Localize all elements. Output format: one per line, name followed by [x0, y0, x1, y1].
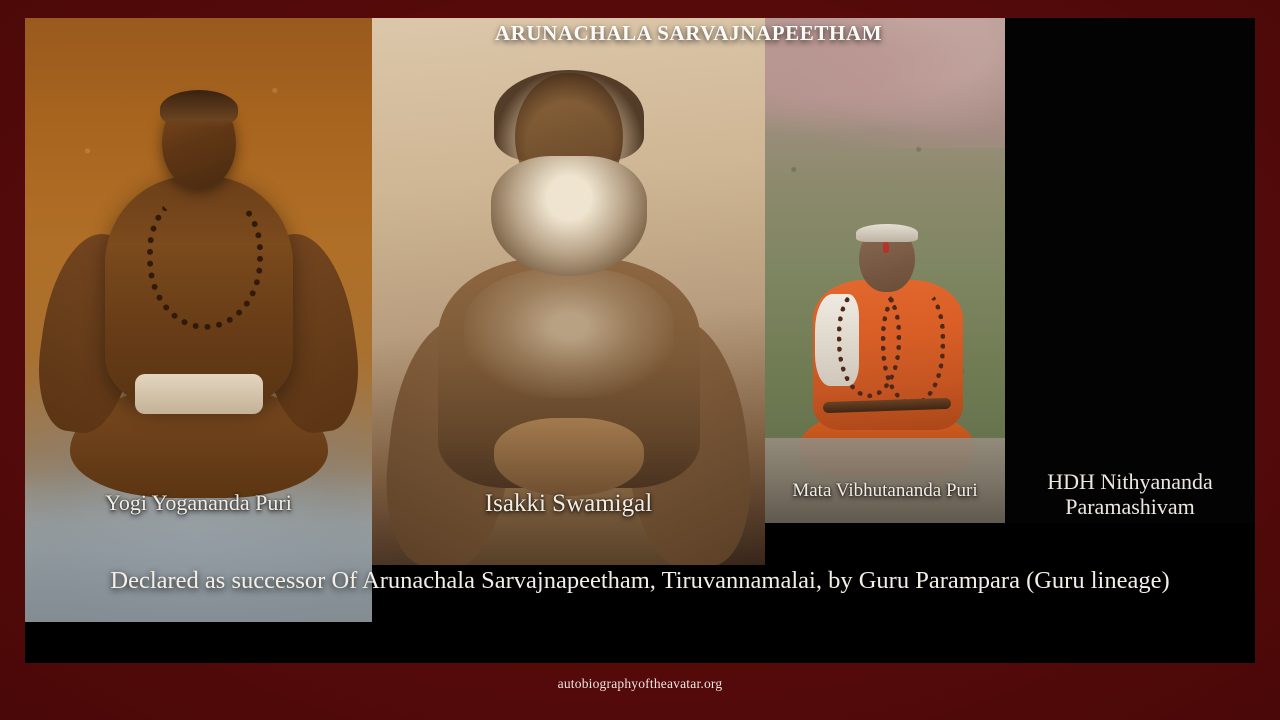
figure-hands [494, 418, 644, 496]
portrait-panel-yogi-yogananda-puri: Yogi Yogananda Puri [25, 18, 372, 622]
portrait-caption-3: Mata Vibhutananda Puri [765, 480, 1005, 501]
portrait-caption-2: Isakki Swamigal [372, 490, 765, 518]
figure-hair [160, 90, 238, 128]
figure-dhoti [135, 374, 263, 414]
declaration-text: Declared as successor Of Arunachala Sarv… [25, 565, 1255, 598]
rudraksha-mala [147, 190, 263, 330]
portrait-caption-4: HDH Nithyananda Paramashivam [1005, 470, 1255, 519]
presentation-slide: Yogi Yogananda Puri Isakki Swamigal [0, 0, 1280, 720]
figure-headband [856, 224, 918, 242]
portrait-panel-mata-vibhutananda-puri: Mata Vibhutananda Puri [765, 18, 1005, 523]
figure-beard [491, 156, 647, 276]
footer-website: autobiographyoftheavatar.org [0, 676, 1280, 692]
content-frame: Yogi Yogananda Puri Isakki Swamigal [25, 18, 1255, 663]
rudraksha-mala-second [881, 286, 945, 406]
slide-headline: ARUNACHALA SARVAJNAPEETHAM [372, 21, 1005, 46]
portrait-panel-nithyananda-paramashivam: HDH Nithyananda Paramashivam [1005, 18, 1255, 523]
portrait-panel-isakki-swamigal: Isakki Swamigal [372, 18, 765, 565]
figure-hair [494, 70, 644, 162]
tilak-mark [883, 242, 889, 253]
portrait-caption-1: Yogi Yogananda Puri [25, 491, 372, 516]
figure-chest-hair [464, 268, 674, 398]
